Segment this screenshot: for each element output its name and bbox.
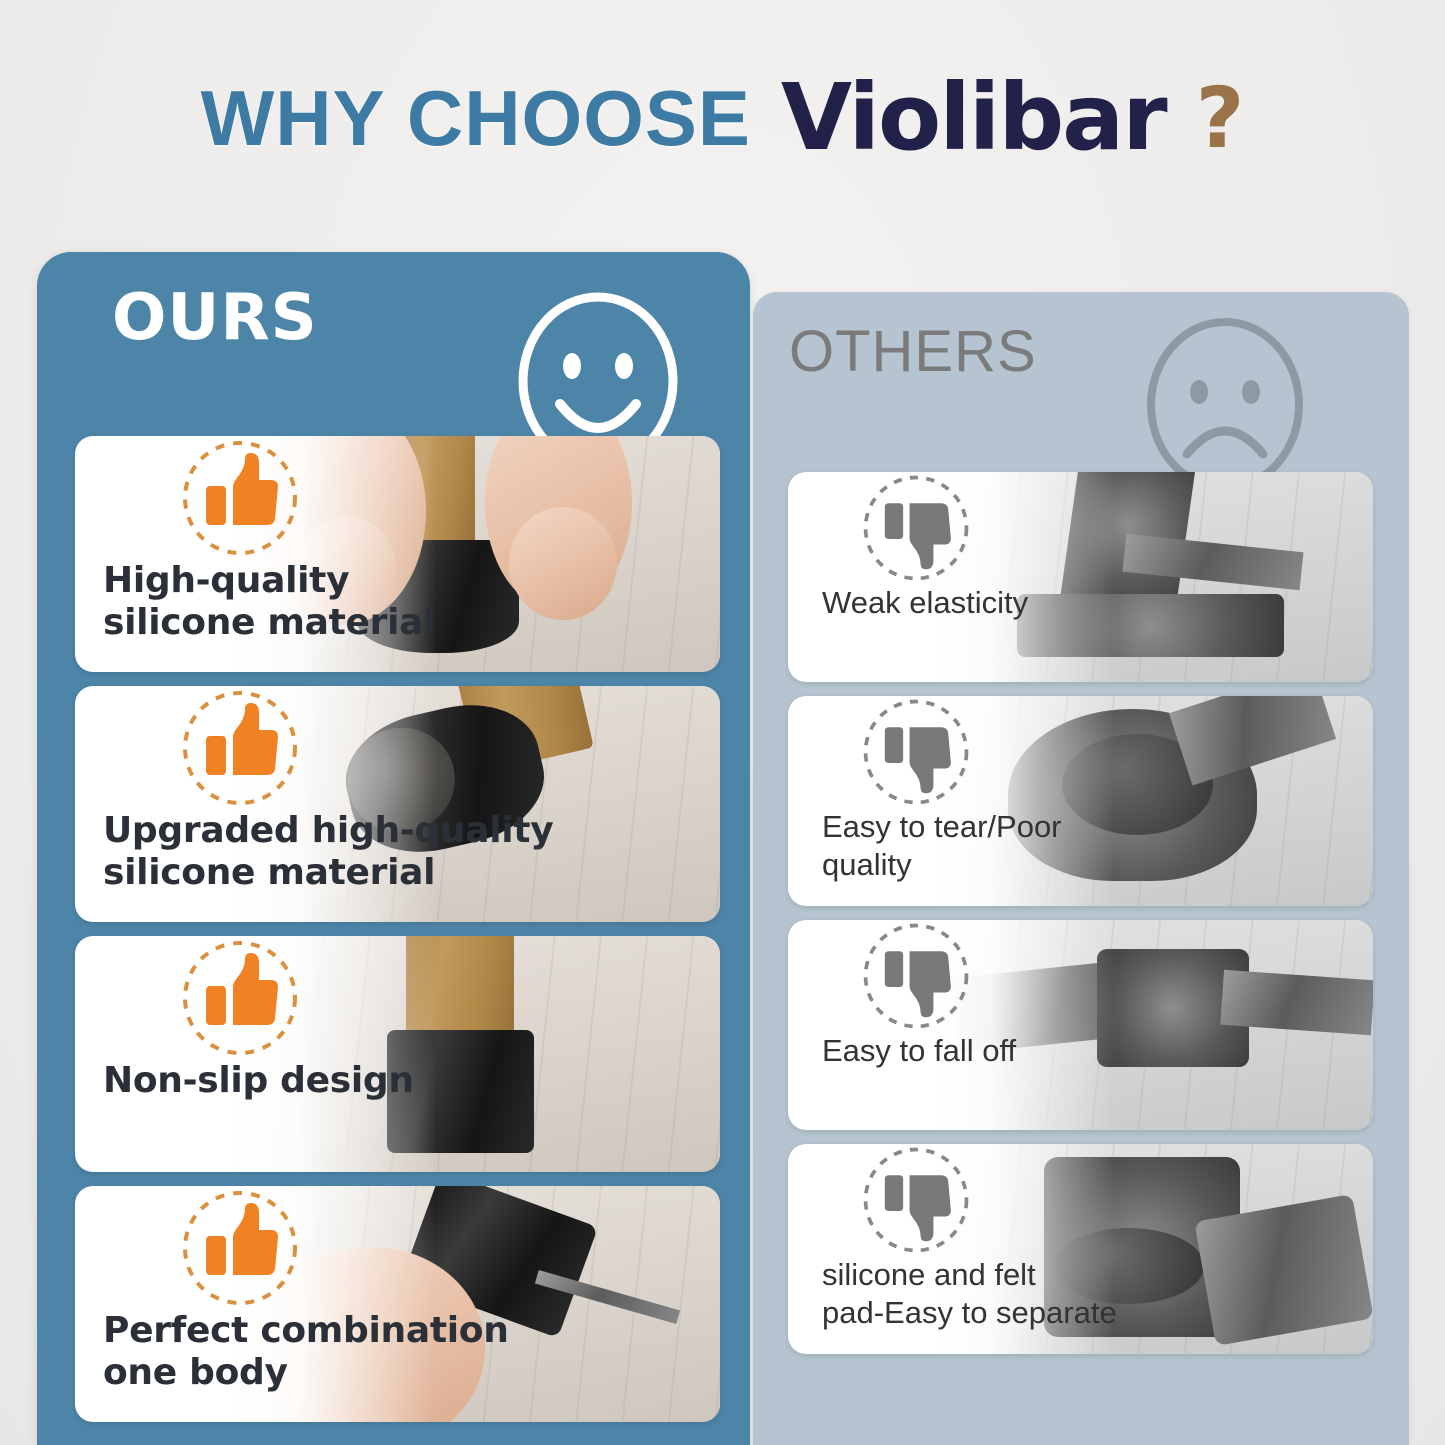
others-photo-separating-pad bbox=[928, 1144, 1373, 1354]
question-mark: ? bbox=[1196, 69, 1245, 167]
ours-feature-list: High-quality silicone material Upgraded … bbox=[75, 436, 720, 1422]
ours-card-4: Perfect combination one body bbox=[75, 1186, 720, 1422]
ours-card-3: Non-slip design bbox=[75, 936, 720, 1172]
ours-card-2: Upgraded high-quality silicone material bbox=[75, 686, 720, 922]
others-card-2: Easy to tear/Poor quality bbox=[788, 696, 1373, 906]
others-photo-falling-off bbox=[928, 920, 1373, 1130]
ours-photo-nonslip-cap bbox=[230, 936, 720, 1172]
others-photo-weak-elasticity bbox=[928, 472, 1373, 682]
others-feature-list: Weak elasticity Easy bbox=[788, 472, 1373, 1354]
brand-logo-text: Violibar bbox=[781, 64, 1166, 171]
ours-panel-header: OURS bbox=[37, 252, 750, 384]
ours-title: OURS bbox=[112, 281, 318, 355]
others-card-3: Easy to fall off bbox=[788, 920, 1373, 1130]
ours-photo-one-body bbox=[230, 1186, 720, 1422]
others-panel-header: OTHERS bbox=[753, 292, 1409, 410]
ours-photo-felt-bottom bbox=[230, 686, 720, 922]
ours-card-1: High-quality silicone material bbox=[75, 436, 720, 672]
others-card-4: silicone and felt pad-Easy to separate bbox=[788, 1144, 1373, 1354]
others-card-1: Weak elasticity bbox=[788, 472, 1373, 682]
ours-photo-stretching-cap bbox=[230, 436, 720, 672]
page-header: WHY CHOOSE Violibar ? bbox=[0, 0, 1445, 236]
page-title: WHY CHOOSE bbox=[201, 73, 751, 164]
others-photo-torn-pad bbox=[928, 696, 1373, 906]
brand-logo: Violibar bbox=[781, 72, 1166, 164]
others-title: OTHERS bbox=[789, 318, 1037, 385]
